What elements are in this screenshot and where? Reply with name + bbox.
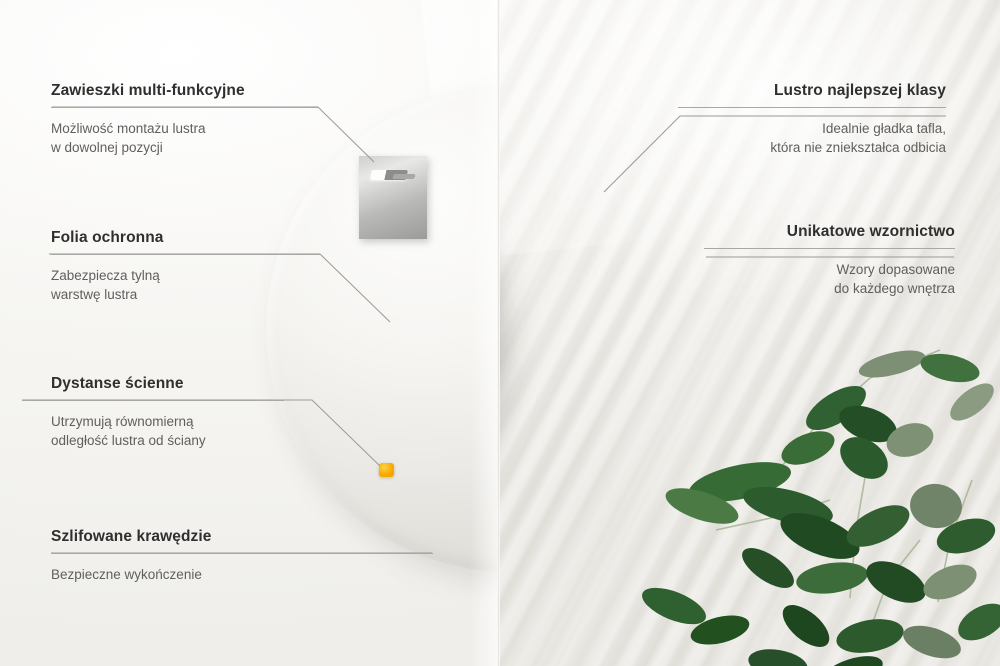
callout-title: Dystanse ścienne [51, 375, 313, 393]
callout-body: Bezpieczne wykończenie [51, 565, 433, 584]
callout-title: Szlifowane krawędzie [51, 528, 433, 546]
callout-wzornictwo: Unikatowe wzornictwo Wzory dopasowane do… [704, 223, 955, 298]
callout-title: Zawieszki multi-funkcyjne [51, 82, 319, 100]
callout-body: Wzory dopasowane do każdego wnętrza [704, 260, 955, 298]
callout-lustro: Lustro najlepszej klasy Idealnie gładka … [678, 82, 946, 157]
callout-title: Folia ochronna [51, 229, 321, 247]
callout-zawieszki: Zawieszki multi-funkcyjne Możliwość mont… [51, 82, 319, 157]
callout-body: Zabezpiecza tylną warstwę lustra [51, 266, 321, 304]
keyhole-hanger-plate [359, 156, 427, 239]
callout-body: Idealnie gładka tafla, która nie znieksz… [678, 119, 946, 157]
vertical-divider [497, 0, 500, 666]
callout-dystanse: Dystanse ścienne Utrzymują równomierną o… [51, 375, 313, 450]
callout-rule [678, 107, 946, 108]
mirror-drop-shadow [498, 104, 512, 596]
keyhole-slot-shadow-icon [392, 174, 415, 179]
callout-rule [51, 107, 319, 108]
callout-title: Unikatowe wzornictwo [704, 223, 955, 241]
callout-rule [704, 248, 955, 249]
callout-rule [51, 254, 321, 255]
split-gradient [470, 0, 500, 666]
wall-spacer-dot [379, 463, 394, 477]
decorative-plant [620, 330, 1000, 666]
callout-krawedzie: Szlifowane krawędzie Bezpieczne wykończe… [51, 528, 433, 584]
product-infographic: Zawieszki multi-funkcyjne Możliwość mont… [0, 0, 1000, 666]
callout-title: Lustro najlepszej klasy [678, 82, 946, 100]
callout-folia: Folia ochronna Zabezpiecza tylną warstwę… [51, 229, 321, 304]
callout-rule [51, 553, 433, 554]
callout-body: Utrzymują równomierną odległość lustra o… [51, 412, 313, 450]
plant-leaves-icon [620, 330, 1000, 666]
callout-rule [22, 400, 284, 401]
callout-body: Możliwość montażu lustra w dowolnej pozy… [51, 119, 319, 157]
